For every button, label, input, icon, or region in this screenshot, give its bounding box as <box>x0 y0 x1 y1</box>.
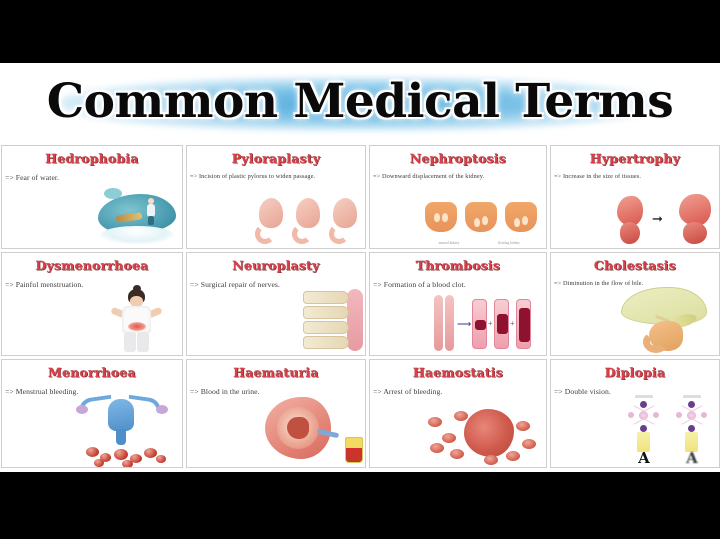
term-name: Nephroptosis <box>370 151 546 166</box>
term-card-pyloraplasty[interactable]: Pyloraplasty => Incision of plastic pylo… <box>186 145 366 249</box>
kidney-urine-sample-illustration <box>265 393 365 467</box>
term-definition: => Arrest of bleeding. <box>370 387 546 396</box>
term-name: Dysmenorrhoea <box>2 258 182 273</box>
term-card-dysmenorrhoea[interactable]: Dysmenorrhoea => Painful menstruation. <box>1 252 183 356</box>
liver-gallbladder-illustration <box>615 285 719 355</box>
arrow-right-icon: ➞ <box>652 212 663 225</box>
video-frame: Common Medical Terms Hedrophobia => Fear… <box>0 0 720 539</box>
term-definition: => Painful menstruation. <box>2 280 182 289</box>
letterbox-top <box>0 0 720 63</box>
term-definition: => Downward displacement of the kidney. <box>370 173 546 180</box>
term-card-diplopia[interactable]: Diplopia => Double vision. A <box>550 359 720 468</box>
term-card-thrombosis[interactable]: Thrombosis => Formation of a blood clot.… <box>369 252 547 356</box>
term-definition: => Fear of water. <box>2 173 182 182</box>
term-definition: => Surgical repair of nerves. <box>187 280 365 289</box>
term-name: Menorrhoea <box>2 365 182 380</box>
terms-row: Hedrophobia => Fear of water. Pyloraplas… <box>1 145 719 249</box>
term-name: Haematuria <box>187 365 365 380</box>
slide-content: Common Medical Terms Hedrophobia => Fear… <box>0 63 720 472</box>
woman-abdominal-pain-illustration <box>100 289 172 355</box>
term-card-cholestasis[interactable]: Cholestasis => Diminution in the flow of… <box>550 252 720 356</box>
eye-chart-letter: A <box>634 449 654 467</box>
muscle-arm-illustration: ➞ <box>613 190 713 244</box>
term-card-haemostatis[interactable]: Haemostatis => Arrest of bleeding. <box>369 359 547 468</box>
term-name: Neuroplasty <box>187 258 365 273</box>
term-name: Pyloraplasty <box>187 151 365 166</box>
uterus-bleeding-illustration <box>72 391 178 467</box>
kidney-caption-normal: normal kidney <box>427 241 471 245</box>
terms-grid: Hedrophobia => Fear of water. Pyloraplas… <box>0 145 720 472</box>
arrow-right-icon: ⟶ <box>457 319 471 330</box>
letterbox-bottom <box>0 472 720 539</box>
term-card-hypertrophy[interactable]: Hypertrophy => Increase in the size of t… <box>550 145 720 249</box>
term-definition: => Incision of plastic pylorus to widen … <box>187 173 365 180</box>
term-definition: => Formation of a blood clot. <box>370 280 546 289</box>
term-name: Diplopia <box>551 365 719 380</box>
term-card-neuroplasty[interactable]: Neuroplasty => Surgical repair of nerves… <box>186 252 366 356</box>
kidney-caption-floating: floating kidney <box>485 241 533 245</box>
term-card-menorrhoea[interactable]: Menorrhoea => Menstrual bleeding. <box>1 359 183 468</box>
term-card-nephroptosis[interactable]: Nephroptosis => Downward displacement of… <box>369 145 547 249</box>
blood-cell-clot-illustration <box>424 403 540 465</box>
kidney-position-illustration: normal kidney floating kidney <box>423 190 543 246</box>
terms-row: Menorrhoea => Menstrual bleeding. <box>1 359 719 468</box>
term-definition: => Increase in the size of tissues. <box>551 173 719 180</box>
term-card-haematuria[interactable]: Haematuria => Blood in the urine. <box>186 359 366 468</box>
term-name: Cholestasis <box>551 258 719 273</box>
terms-row: Dysmenorrhoea => Painful menstruation. N… <box>1 252 719 356</box>
term-name: Thrombosis <box>370 258 546 273</box>
eye-chart-letter-double: A <box>682 449 702 467</box>
spine-nerve-illustration <box>295 289 365 355</box>
blood-clot-vessel-illustration: ⟶ + + <box>432 291 544 353</box>
term-name: Haemostatis <box>370 365 546 380</box>
term-name: Hypertrophy <box>551 151 719 166</box>
water-scene-illustration <box>94 186 180 246</box>
term-card-hedrophobia[interactable]: Hedrophobia => Fear of water. <box>1 145 183 249</box>
stomach-pylorus-illustration <box>253 194 363 246</box>
title-band: Common Medical Terms <box>0 63 720 145</box>
page-title: Common Medical Terms <box>0 69 720 135</box>
term-name: Hedrophobia <box>2 151 182 166</box>
double-vision-eye-diagram: A A <box>621 395 717 467</box>
